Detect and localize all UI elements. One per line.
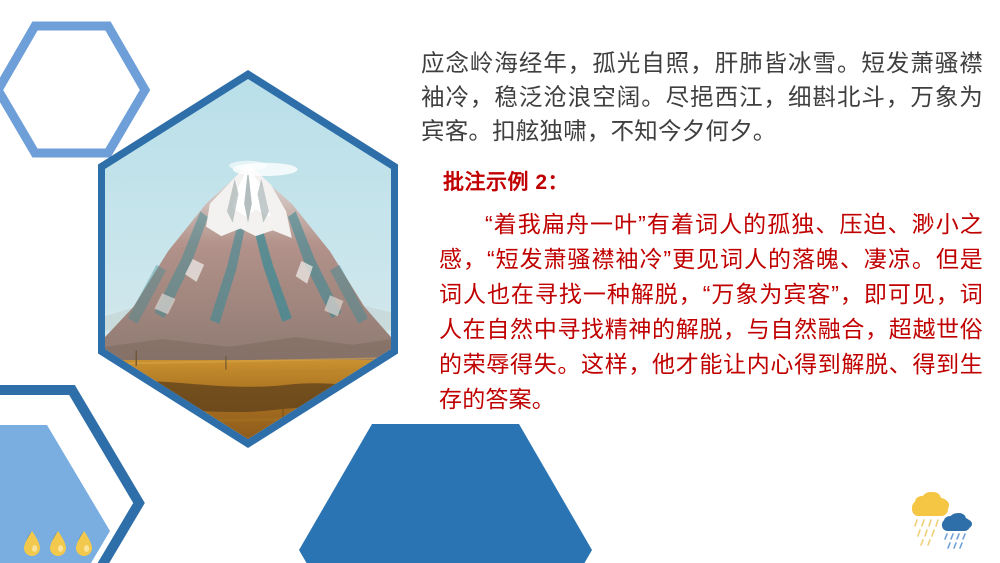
droplet-icon (50, 531, 66, 556)
droplet-icon (24, 531, 40, 556)
droplet-icon (76, 531, 92, 556)
rain-cloud-icon-group (898, 488, 978, 554)
annotation-heading: 批注示例 2： (443, 170, 983, 196)
droplet-icon-group (22, 527, 94, 561)
photo-hexagon (98, 70, 398, 448)
volcano-photo (105, 79, 391, 439)
rain-cloud-yellow-icon (912, 492, 949, 545)
annotation-body: “着我扁舟一叶”有着词人的孤独、压迫、渺小之感，“短发萧骚襟袖冷”更见词人的落魄… (439, 207, 983, 417)
slide-canvas: 应念岭海经年，孤光自照，肝肺皆冰雪。短发萧骚襟袖冷，稳泛沧浪空阔。尽挹西江，细斟… (0, 0, 1000, 563)
poem-paragraph: 应念岭海经年，孤光自照，肝肺皆冰雪。短发萧骚襟袖冷，稳泛沧浪空阔。尽挹西江，细斟… (421, 46, 983, 148)
photo-hexagon-image (105, 79, 391, 439)
text-column: 应念岭海经年，孤光自照，肝肺皆冰雪。短发萧骚襟袖冷，稳泛沧浪空阔。尽挹西江，细斟… (421, 46, 983, 417)
rain-cloud-blue-icon (942, 513, 972, 548)
